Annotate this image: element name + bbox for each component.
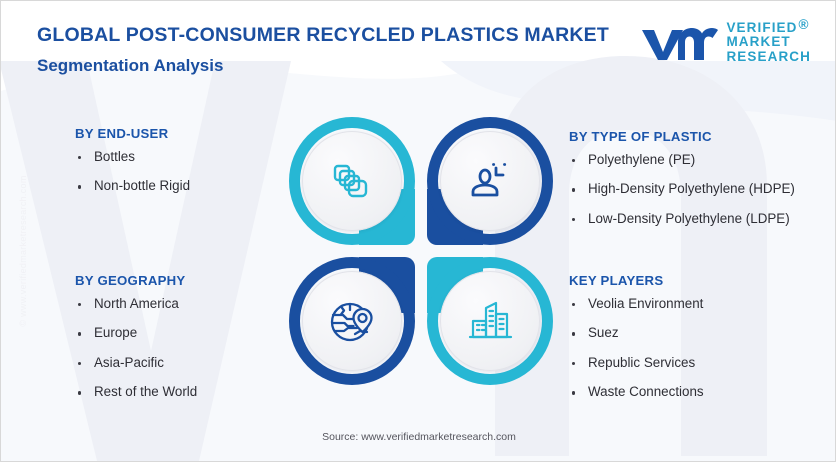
segment-circle-key-players[interactable] [427,257,553,385]
segment-title-geography: BY GEOGRAPHY [75,273,197,288]
copyright-watermark: © www.verifiedmarketresearch.com [18,161,28,341]
segment-list-key-players: Veolia Environment Suez Republic Service… [569,297,704,399]
list-item: Republic Services [569,356,704,369]
user-profile-icon [464,155,516,207]
segment-block-end-user: BY END-USER Bottles Non-bottle Rigid [75,126,190,209]
circle-inner-disc-type-of-plastic [440,131,540,231]
page-title: GLOBAL POST-CONSUMER RECYCLED PLASTICS M… [37,24,609,47]
segment-circle-end-user[interactable] [289,117,415,245]
list-item: Polyethylene (PE) [569,153,795,166]
segment-title-end-user: BY END-USER [75,126,190,141]
segment-list-type-of-plastic: Polyethylene (PE) High-Density Polyethyl… [569,153,795,225]
list-item: Waste Connections [569,385,704,398]
segment-circle-type-of-plastic[interactable] [427,117,553,245]
segment-title-key-players: KEY PLAYERS [569,273,704,288]
list-item: Europe [75,326,197,339]
list-item: Asia-Pacific [75,356,197,369]
brand-logo[interactable]: VERIFIED® MARKET RESEARCH [640,21,811,64]
list-item: Rest of the World [75,385,197,398]
list-item: Non-bottle Rigid [75,179,190,192]
list-item: Low-Density Polyethylene (LDPE) [569,212,795,225]
circle-inner-disc-geography [302,271,402,371]
logo-line-research: RESEARCH [726,50,811,64]
segment-title-type-of-plastic: BY TYPE OF PLASTIC [569,129,795,144]
segment-block-type-of-plastic: BY TYPE OF PLASTIC Polyethylene (PE) Hig… [569,129,795,241]
list-item: Veolia Environment [569,297,704,310]
segmentation-circle-cluster [289,117,553,385]
registered-mark: ® [799,17,810,32]
stacked-containers-icon [325,154,379,208]
circle-inner-disc-end-user [302,131,402,231]
segment-list-end-user: Bottles Non-bottle Rigid [75,150,190,193]
logo-line-market: MARKET [726,35,811,49]
infographic-canvas: GLOBAL POST-CONSUMER RECYCLED PLASTICS M… [0,0,836,462]
vmr-logo-mark-icon [640,22,718,62]
list-item: North America [75,297,197,310]
logo-wordmark: VERIFIED® MARKET RESEARCH [726,21,811,64]
segment-circle-geography[interactable] [289,257,415,385]
source-caption: Source: www.verifiedmarketresearch.com [1,431,836,443]
list-item: High-Density Polyethylene (HDPE) [569,182,795,195]
list-item: Suez [569,326,704,339]
header: GLOBAL POST-CONSUMER RECYCLED PLASTICS M… [1,1,836,87]
list-item: Bottles [75,150,190,163]
segment-block-key-players: KEY PLAYERS Veolia Environment Suez Repu… [569,273,704,415]
logo-line-verified: VERIFIED® [726,21,811,35]
city-buildings-icon [463,294,517,348]
page-subtitle: Segmentation Analysis [37,56,223,76]
segment-block-geography: BY GEOGRAPHY North America Europe Asia-P… [75,273,197,415]
segment-list-geography: North America Europe Asia-Pacific Rest o… [75,297,197,399]
globe-location-pin-icon [324,293,380,349]
circle-inner-disc-key-players [440,271,540,371]
